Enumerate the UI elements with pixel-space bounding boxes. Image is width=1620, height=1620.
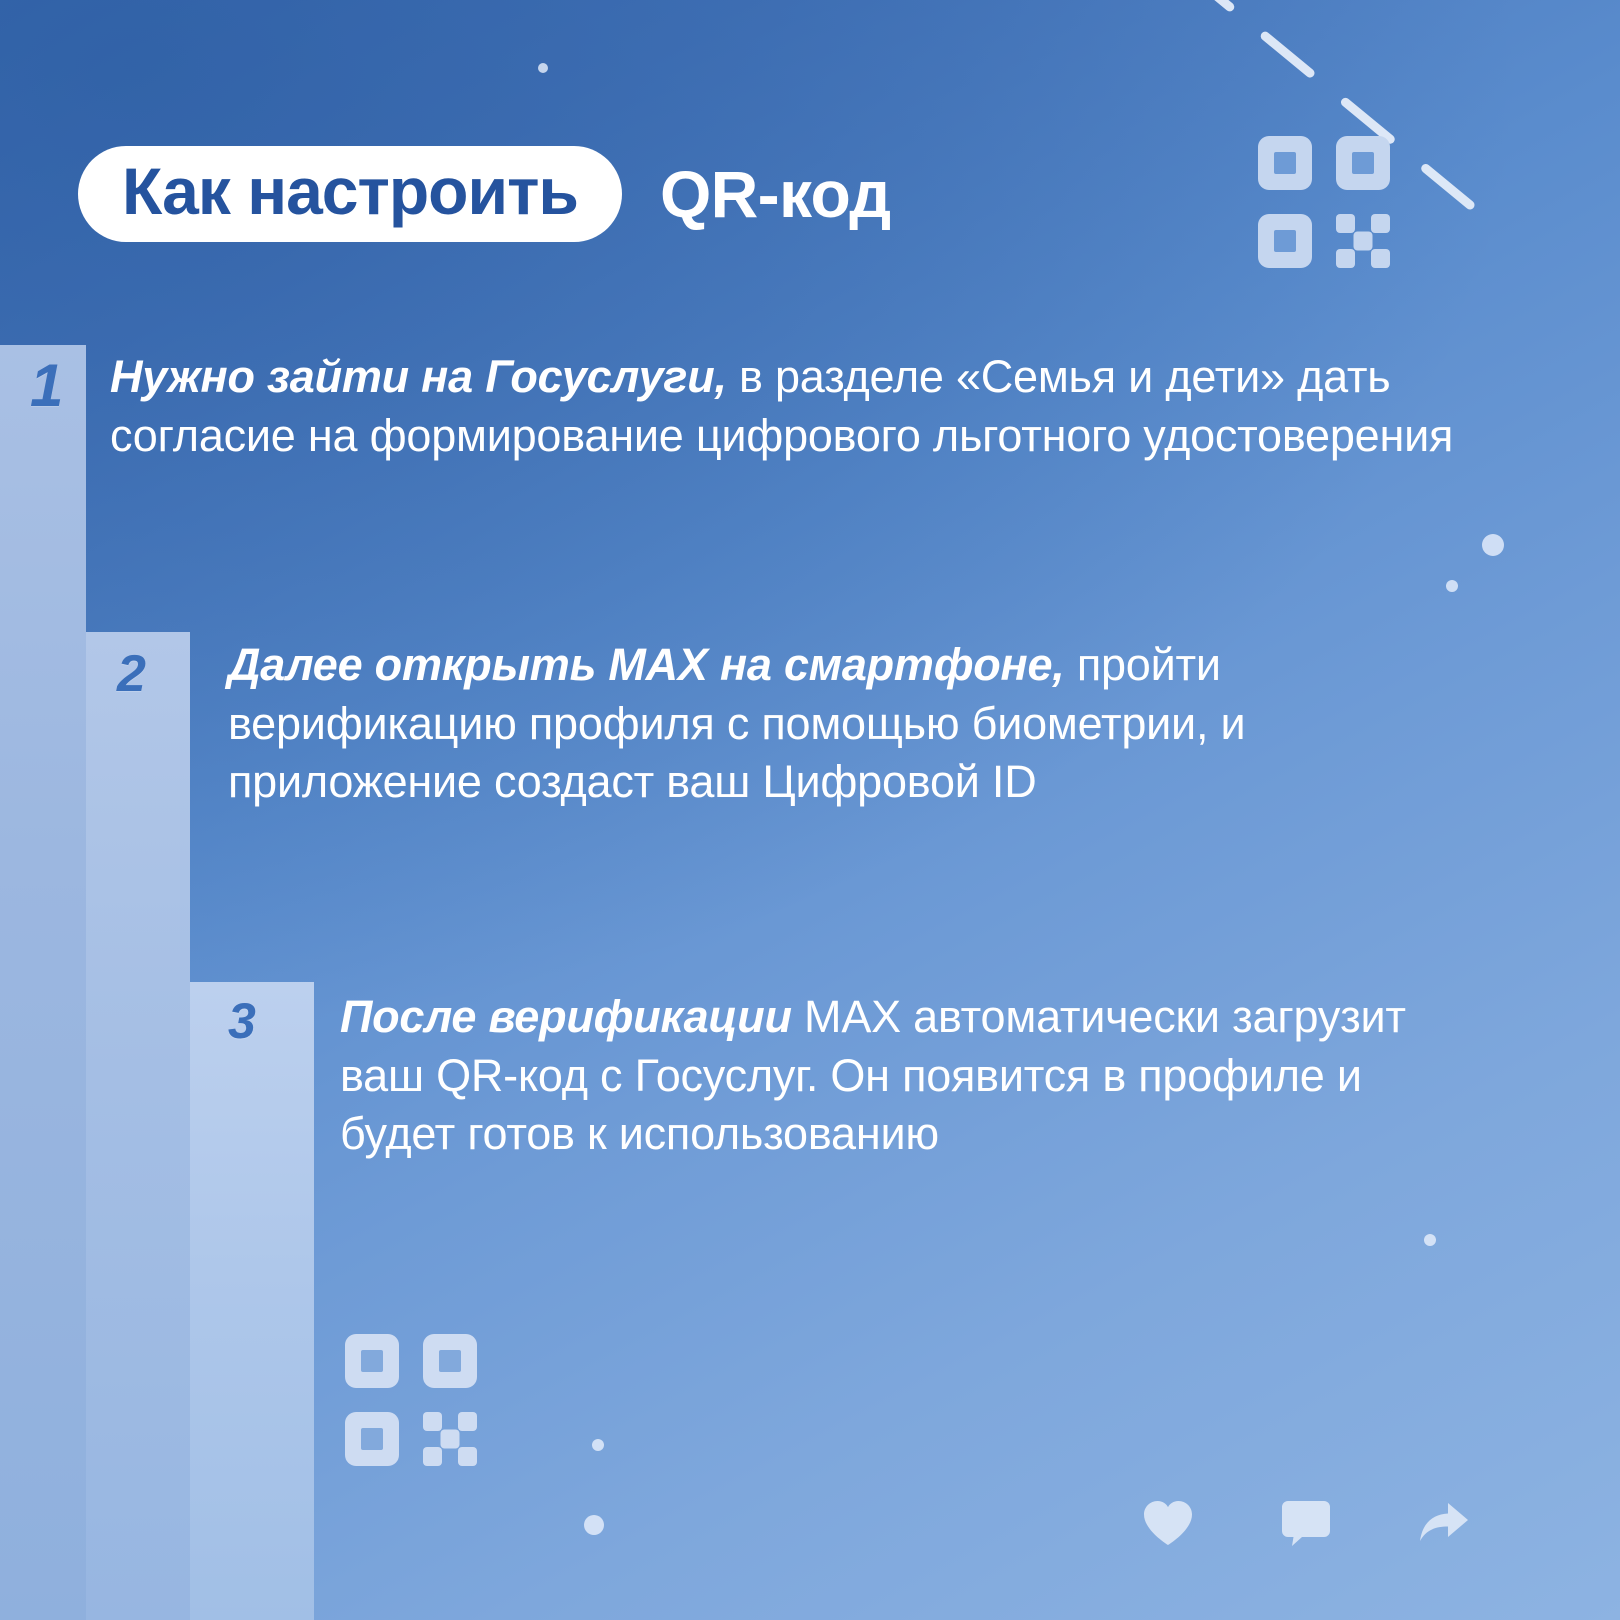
step-number-2: 2: [117, 648, 145, 700]
social-actions: [1142, 1498, 1470, 1548]
heart-icon[interactable]: [1142, 1498, 1194, 1548]
decor-dot: [1482, 534, 1504, 556]
step-lead-3: После верификации: [340, 991, 792, 1042]
poster-header: Как настроить QR-код: [78, 146, 891, 242]
poster-canvas: 1 2 3 Как настроить QR-код Нужно зайти н…: [0, 0, 1620, 1620]
qr-code-icon: [1258, 136, 1390, 268]
step-column-1: [0, 345, 86, 1620]
qr-code-icon: [345, 1334, 477, 1466]
step-number-3: 3: [228, 996, 255, 1046]
step-column-2: [86, 632, 190, 1620]
step-lead-1: Нужно зайти на Госуслуги,: [110, 351, 727, 402]
step-column-3: [190, 982, 314, 1620]
step-text-1: Нужно зайти на Госуслуги, в разделе «Сем…: [110, 348, 1490, 465]
decor-dot: [584, 1515, 604, 1535]
share-icon[interactable]: [1418, 1498, 1470, 1548]
decor-dot: [1424, 1234, 1436, 1246]
title-pill: Как настроить: [78, 146, 622, 242]
decor-dot: [538, 63, 548, 73]
comment-icon[interactable]: [1280, 1498, 1332, 1548]
decor-dot: [1446, 580, 1458, 592]
page-title-suffix: QR-код: [660, 161, 891, 227]
step-lead-2: Далее открыть MAX на смартфоне,: [228, 639, 1065, 690]
decor-dot: [592, 1439, 604, 1451]
page-title: Как настроить: [122, 158, 578, 224]
step-number-1: 1: [30, 356, 62, 416]
step-text-2: Далее открыть MAX на смартфоне, пройти в…: [228, 636, 1488, 812]
dashed-diagonal-line-icon: [1170, 0, 1500, 240]
step-text-3: После верификации MAX автоматически загр…: [340, 988, 1460, 1164]
